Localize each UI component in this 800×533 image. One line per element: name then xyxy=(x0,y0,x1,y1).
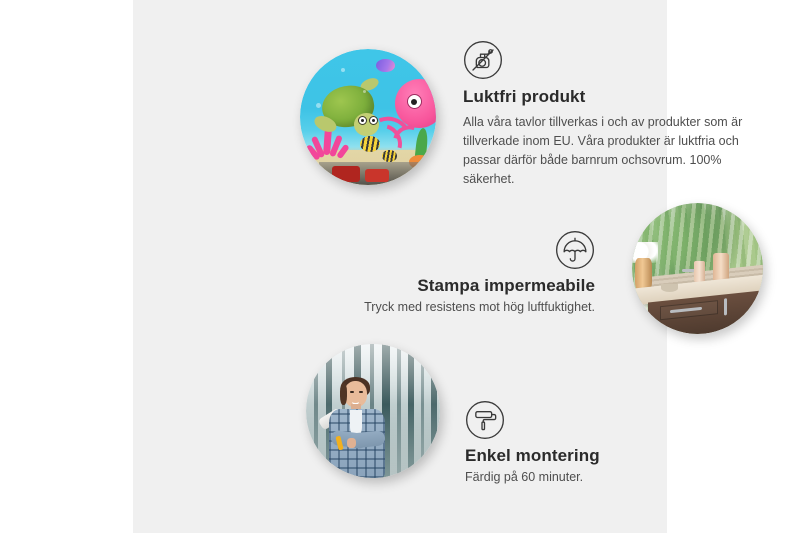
paint-roller-icon xyxy=(465,400,765,440)
image-bathroom-botanical xyxy=(632,203,763,334)
person-eye-left xyxy=(350,391,354,393)
painter-forest-inner xyxy=(306,344,440,478)
fish-yellow-small xyxy=(382,150,397,162)
no-spray-bottle-icon xyxy=(463,40,763,80)
infographic-stage: Luktfri produkt Alla våra tavlor tillver… xyxy=(0,0,800,533)
feature-odorless-title: Luktfri produkt xyxy=(463,87,763,107)
bathroom-botanical-inner xyxy=(632,203,763,334)
furniture-red-1 xyxy=(332,166,360,182)
painter-person xyxy=(325,379,400,478)
feature-easy-mounting: Enkel montering Färdig på 60 minuter. xyxy=(465,400,765,484)
fish-purple xyxy=(376,59,395,73)
infographic-panel: Luktfri produkt Alla våra tavlor tillver… xyxy=(133,0,667,533)
person-hair-side xyxy=(340,383,348,405)
underwater-scene-inner xyxy=(300,49,436,185)
feature-waterproof-subtitle: Tryck med resistens mot hög luftfuktighe… xyxy=(295,300,595,314)
feature-easy-mounting-title: Enkel montering xyxy=(465,446,765,466)
umbrella-icon xyxy=(295,230,595,270)
soap-dispenser xyxy=(694,261,706,283)
person-hand xyxy=(347,438,355,448)
feature-odorless-body: Alla våra tavlor tillverkas i och av pro… xyxy=(463,113,763,189)
image-underwater-scene xyxy=(300,49,436,185)
image-painter-forest xyxy=(306,344,440,478)
feature-waterproof-title: Stampa impermeabile xyxy=(295,276,595,296)
feature-waterproof: Stampa impermeabile Tryck med resistens … xyxy=(295,230,595,314)
bubble-3 xyxy=(363,90,366,93)
feature-odorless: Luktfri produkt Alla våra tavlor tillver… xyxy=(463,40,763,189)
person-eye-right xyxy=(359,391,363,393)
furniture-red-2 xyxy=(365,169,389,182)
feature-easy-mounting-subtitle: Färdig på 60 minuter. xyxy=(465,470,765,484)
door-handle xyxy=(724,298,727,316)
room-strip xyxy=(319,162,428,185)
bubble-2 xyxy=(341,68,345,72)
soap-dish xyxy=(661,284,678,292)
